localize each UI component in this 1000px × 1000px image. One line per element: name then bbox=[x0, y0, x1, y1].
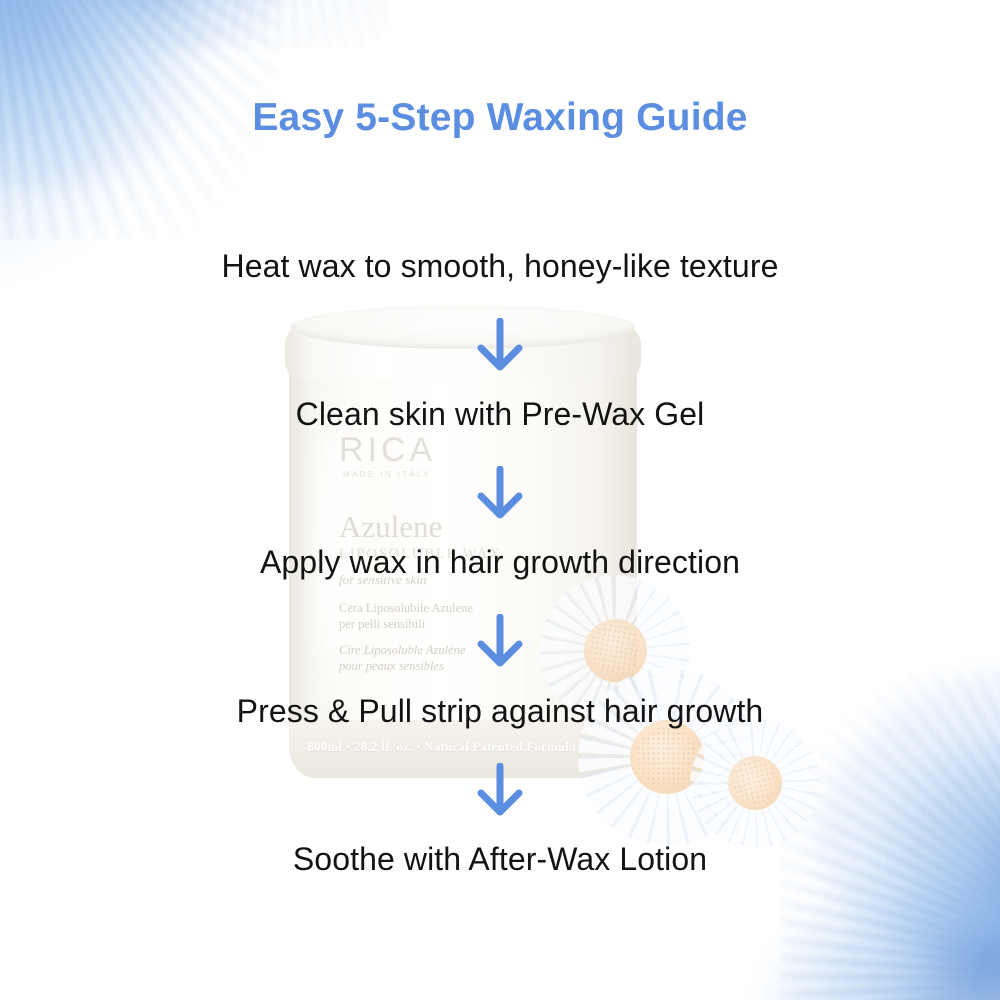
step-1-text: Heat wax to smooth, honey-like texture bbox=[0, 248, 1000, 285]
step-4-text: Press & Pull strip against hair growth bbox=[0, 693, 1000, 730]
guide-content: Easy 5-Step Waxing Guide Heat wax to smo… bbox=[0, 0, 1000, 1000]
page-title: Easy 5-Step Waxing Guide bbox=[0, 96, 1000, 140]
arrow-down-icon bbox=[474, 614, 526, 668]
arrow-down-icon bbox=[474, 763, 526, 817]
step-5-text: Soothe with After-Wax Lotion bbox=[0, 841, 1000, 878]
step-3-text: Apply wax in hair growth direction bbox=[0, 544, 1000, 581]
waxing-guide-infographic: RICA MADE IN ITALY Azulene LIPOSOLUBLE W… bbox=[0, 0, 1000, 1000]
step-2-text: Clean skin with Pre-Wax Gel bbox=[0, 396, 1000, 433]
arrow-down-icon bbox=[474, 318, 526, 372]
arrow-down-icon bbox=[474, 466, 526, 520]
